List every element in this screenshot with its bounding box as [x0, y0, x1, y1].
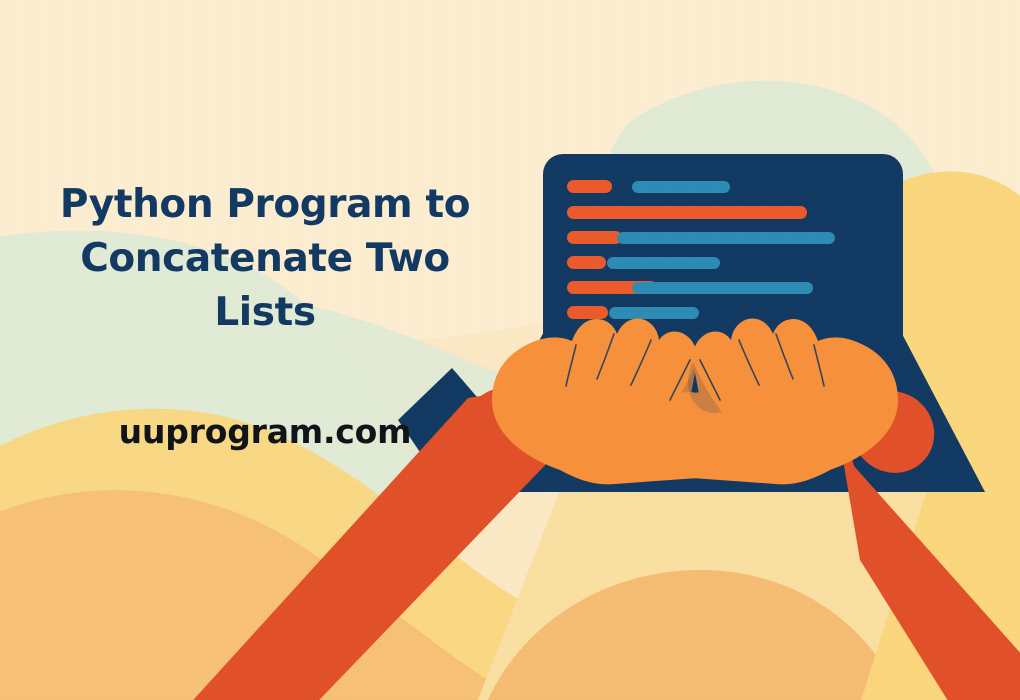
website-url: uuprogram.com [30, 412, 500, 451]
page-title-line-1: Python Program to [30, 178, 500, 232]
page-title: Python Program to Concatenate Two Lists [30, 178, 500, 339]
page-title-line-2: Concatenate Two [30, 232, 500, 286]
page-title-line-3: Lists [30, 286, 500, 340]
text-layer: Python Program to Concatenate Two Lists … [0, 0, 1020, 700]
poster-canvas: Python Program to Concatenate Two Lists … [0, 0, 1020, 700]
